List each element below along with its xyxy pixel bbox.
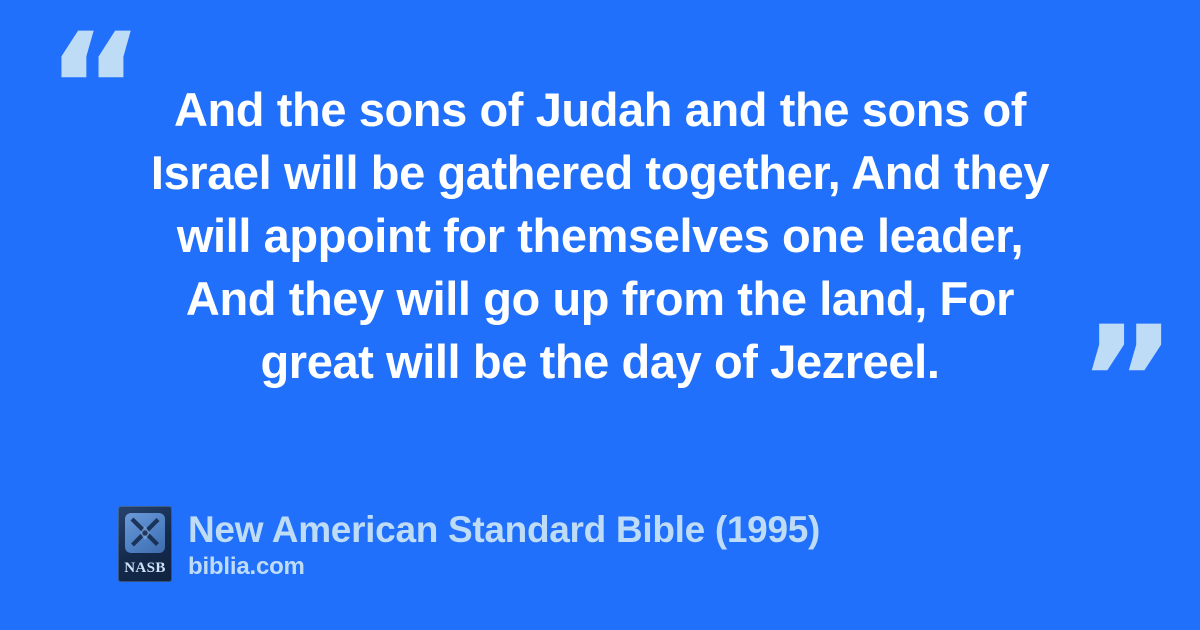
nasb-logo: NASB: [118, 506, 172, 582]
quote-text-block: And the sons of Judah and the sons of Is…: [100, 78, 1100, 393]
quote-line: And the sons of Judah and the sons of: [100, 78, 1100, 141]
footer-text-group: New American Standard Bible (1995) bibli…: [188, 506, 820, 582]
closing-quote-icon: ”: [1078, 307, 1175, 457]
attribution-footer: NASB New American Standard Bible (1995) …: [118, 506, 820, 582]
quote-line: And they will go up from the land, For: [100, 267, 1100, 330]
nasb-wordmark: NASB: [118, 561, 172, 576]
source-website-label: biblia.com: [188, 552, 820, 582]
quote-card: “ And the sons of Judah and the sons of …: [0, 0, 1200, 630]
quote-line: will appoint for themselves one leader,: [100, 204, 1100, 267]
bible-version-title: New American Standard Bible (1995): [188, 508, 820, 552]
nasb-emblem-icon: [125, 513, 165, 553]
quote-line: Israel will be gathered together, And th…: [100, 141, 1100, 204]
quote-line: great will be the day of Jezreel.: [100, 330, 1100, 393]
